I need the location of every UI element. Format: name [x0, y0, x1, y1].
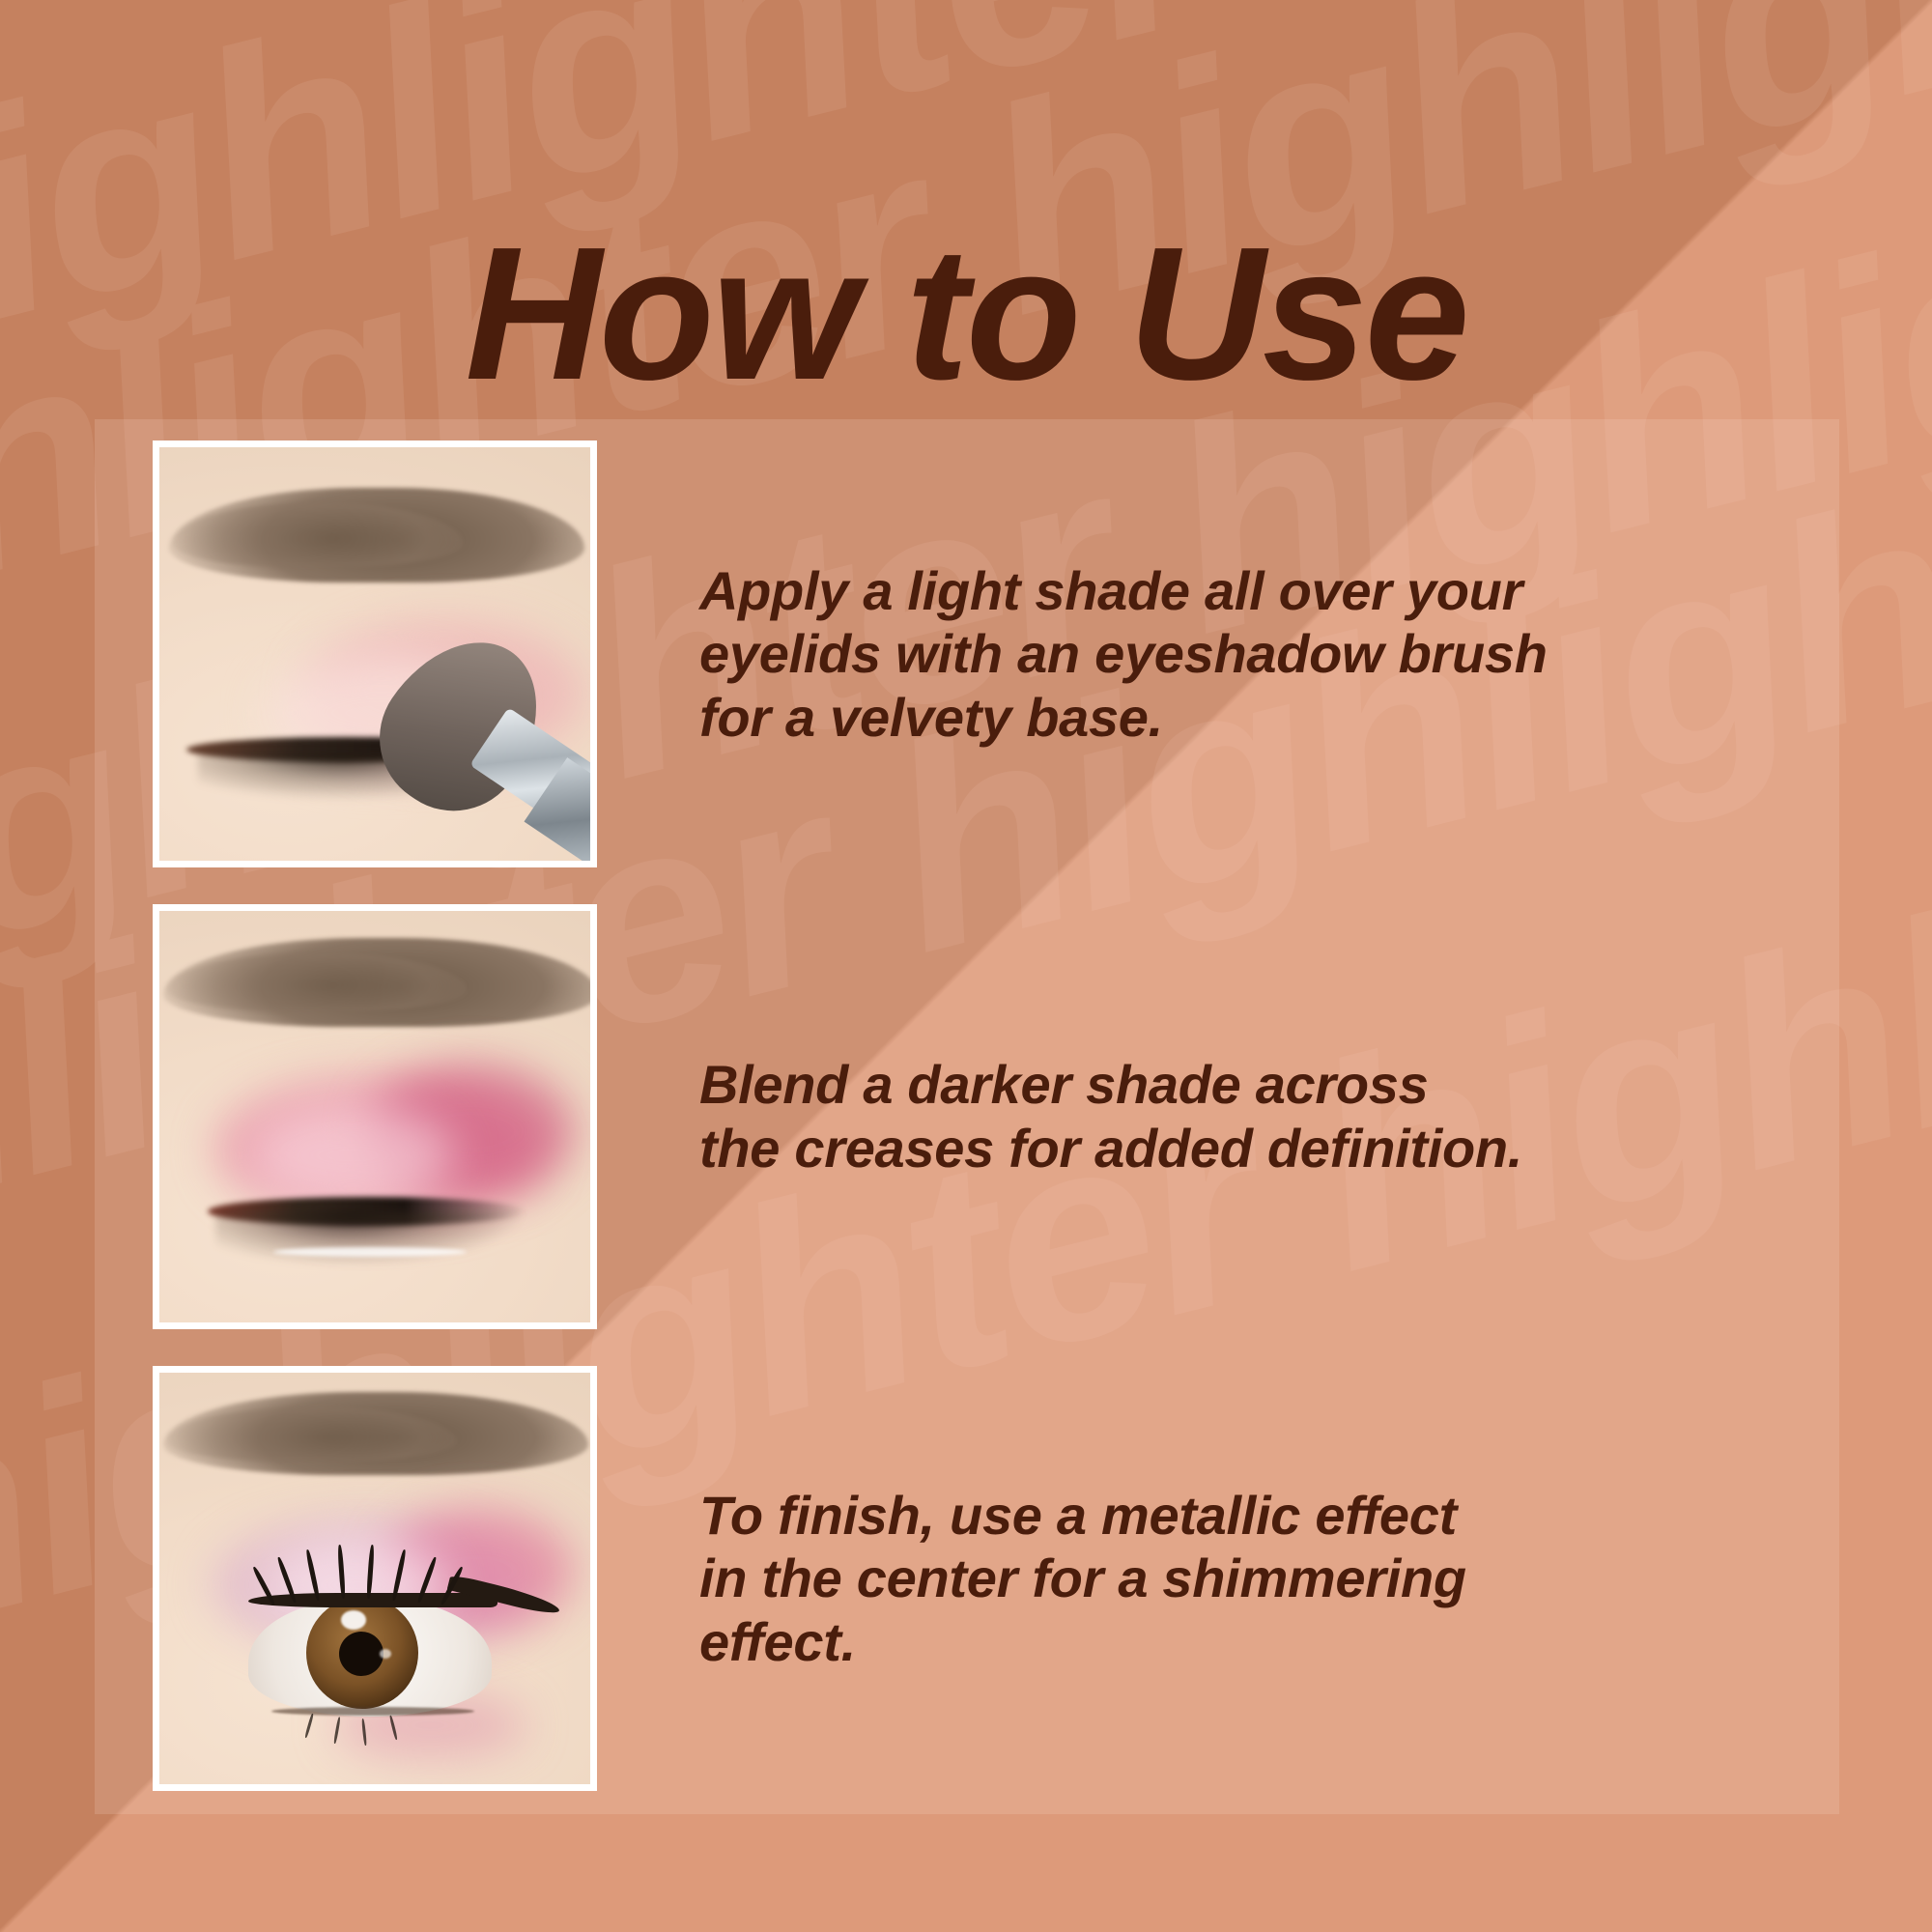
step-2-text: Blend a darker shade across the creases …	[699, 1053, 1785, 1179]
step-row: Blend a darker shade across the creases …	[153, 904, 1785, 1329]
step-2-photo	[153, 904, 597, 1329]
page-title: How to Use	[0, 219, 1932, 409]
poster-canvas: highlighter highlighter highlighter high…	[0, 0, 1932, 1932]
step-3-photo	[153, 1366, 597, 1791]
step-1-photo	[153, 440, 597, 867]
step-1-text: Apply a light shade all over your eyelid…	[699, 559, 1785, 750]
step-row: To finish, use a metallic effect in the …	[153, 1366, 1785, 1791]
step-3-text: To finish, use a metallic effect in the …	[699, 1484, 1785, 1674]
step-row: Apply a light shade all over your eyelid…	[153, 440, 1785, 867]
